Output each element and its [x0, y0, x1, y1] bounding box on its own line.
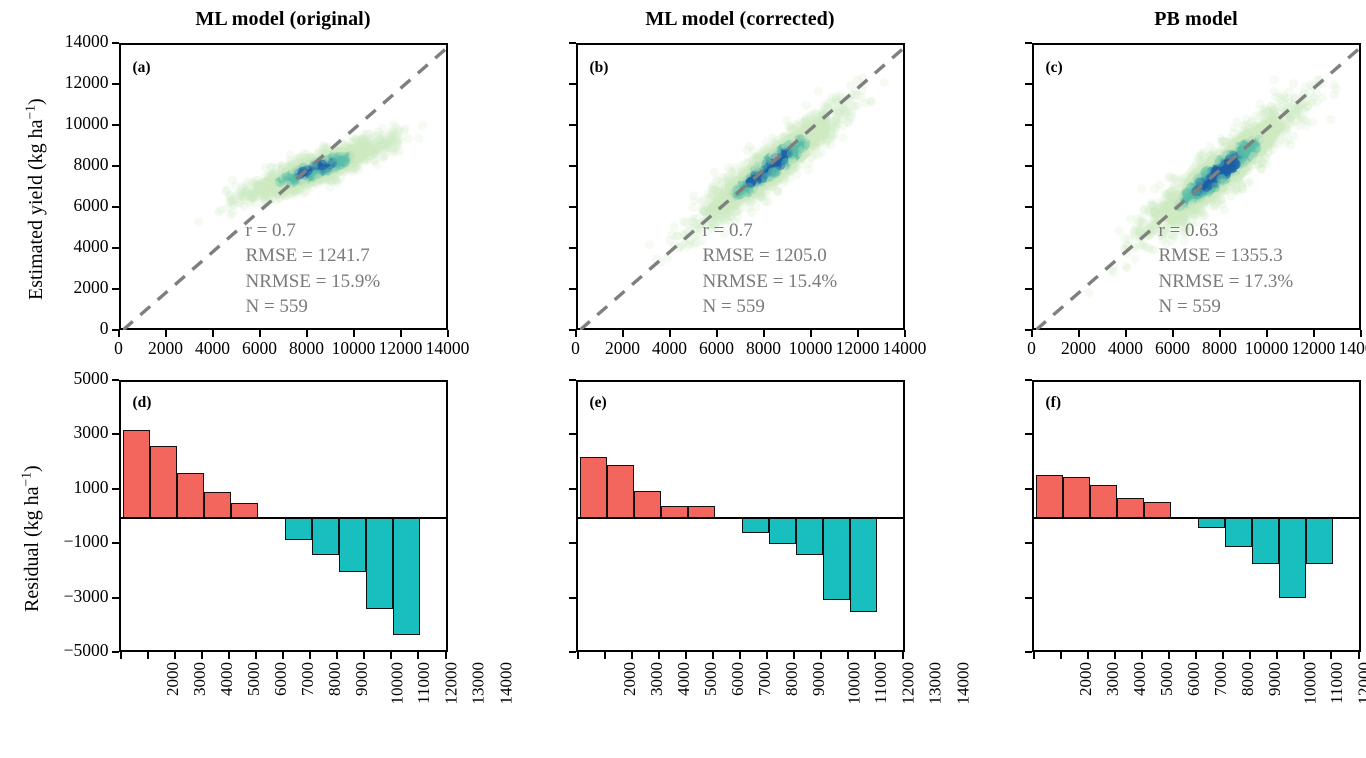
- xtick-label-a-7: 14000: [418, 340, 478, 358]
- res-ytick-e-5: [569, 651, 576, 653]
- res-ytick-f-3: [1025, 542, 1032, 544]
- xtick-b-2: [669, 330, 671, 337]
- ytick-a-2: [112, 247, 119, 249]
- residual-bar-f-3: [1117, 498, 1144, 518]
- panel-title-c: PB model: [1032, 8, 1361, 31]
- residual-bar-d-10: [393, 518, 420, 635]
- res-xtick-f-8: [1249, 652, 1251, 659]
- xtick-b-0: [575, 330, 577, 337]
- residual-bar-d-1: [150, 446, 177, 518]
- ytick-b-6: [569, 83, 576, 85]
- res-ytick-e-4: [569, 597, 576, 599]
- res-xtick-f-0: [1033, 652, 1035, 659]
- residual-bar-f-4: [1144, 502, 1171, 518]
- ytick-c-2: [1025, 247, 1032, 249]
- res-xtick-label-e-8: 10000: [846, 662, 863, 705]
- xtick-c-1: [1078, 330, 1080, 337]
- xtick-b-4: [763, 330, 765, 337]
- stats-block-a: r = 0.7RMSE = 1241.7NRMSE = 15.9%N = 559: [246, 218, 381, 320]
- res-xtick-label-d-0: 2000: [164, 662, 181, 696]
- panel-tag-f: (f): [1046, 394, 1062, 412]
- xtick-a-0: [118, 330, 120, 337]
- xtick-label-b-7: 14000: [875, 340, 935, 358]
- res-xtick-e-9: [820, 652, 822, 659]
- xtick-a-6: [400, 330, 402, 337]
- xtick-c-6: [1313, 330, 1315, 337]
- res-ytick-label-0: 5000: [33, 370, 109, 388]
- ytick-b-2: [569, 247, 576, 249]
- xtick-c-2: [1125, 330, 1127, 337]
- res-xtick-e-1: [604, 652, 606, 659]
- res-xtick-d-9: [363, 652, 365, 659]
- res-xtick-label-e-10: 12000: [900, 662, 917, 705]
- res-xtick-f-9: [1276, 652, 1278, 659]
- res-xtick-f-11: [1330, 652, 1332, 659]
- panel-tag-c: (c): [1046, 59, 1063, 77]
- residual-plot-d: [119, 380, 448, 652]
- zero-line-e: [578, 517, 903, 519]
- ytick-label-4: 8000: [41, 156, 109, 174]
- res-xtick-f-10: [1303, 652, 1305, 659]
- res-xtick-d-2: [174, 652, 176, 659]
- stat-rmse-b: RMSE = 1205.0: [703, 243, 838, 268]
- ytick-label-5: 10000: [41, 115, 109, 133]
- res-xtick-f-1: [1060, 652, 1062, 659]
- stat-r-b: r = 0.7: [703, 218, 838, 243]
- xtick-a-7: [447, 330, 449, 337]
- residual-bar-f-0: [1036, 475, 1063, 519]
- ytick-label-1: 2000: [41, 279, 109, 297]
- residual-bar-e-6: [742, 518, 769, 533]
- residual-bar-e-10: [850, 518, 877, 612]
- res-ytick-d-5: [112, 651, 119, 653]
- res-xtick-label-f-7: 9000: [1266, 662, 1283, 696]
- xtick-c-4: [1219, 330, 1221, 337]
- residual-bar-d-3: [204, 492, 231, 518]
- res-xtick-label-f-9: 11000: [1328, 662, 1345, 704]
- res-ytick-e-3: [569, 542, 576, 544]
- res-xtick-label-e-4: 6000: [729, 662, 746, 696]
- res-xtick-d-3: [201, 652, 203, 659]
- res-xtick-f-4: [1141, 652, 1143, 659]
- res-xtick-label-f-3: 5000: [1158, 662, 1175, 696]
- res-ytick-f-1: [1025, 433, 1032, 435]
- res-xtick-f-2: [1087, 652, 1089, 659]
- res-xtick-e-2: [631, 652, 633, 659]
- ytick-label-3: 6000: [41, 197, 109, 215]
- ytick-label-2: 4000: [41, 238, 109, 256]
- res-ytick-d-0: [112, 379, 119, 381]
- res-xtick-d-10: [390, 652, 392, 659]
- zero-line-f: [1034, 517, 1359, 519]
- stat-nrmse-c: NRMSE = 17.3%: [1159, 269, 1294, 294]
- stat-nrmse-b: NRMSE = 15.4%: [703, 269, 838, 294]
- stat-nrmse-a: NRMSE = 15.9%: [246, 269, 381, 294]
- ytick-c-1: [1025, 288, 1032, 290]
- xtick-b-3: [716, 330, 718, 337]
- res-xtick-label-d-8: 10000: [389, 662, 406, 705]
- residual-bar-d-7: [312, 518, 339, 555]
- residual-bar-d-0: [123, 430, 150, 518]
- res-xtick-label-d-7: 9000: [353, 662, 370, 696]
- res-ytick-e-0: [569, 379, 576, 381]
- stat-r-c: r = 0.63: [1159, 218, 1294, 243]
- res-xtick-label-d-12: 14000: [497, 662, 514, 705]
- ytick-b-4: [569, 165, 576, 167]
- res-xtick-f-5: [1168, 652, 1170, 659]
- residual-bar-f-7: [1225, 518, 1252, 547]
- xtick-a-1: [165, 330, 167, 337]
- res-xtick-e-4: [685, 652, 687, 659]
- ytick-c-5: [1025, 124, 1032, 126]
- stat-rmse-a: RMSE = 1241.7: [246, 243, 381, 268]
- ytick-b-5: [569, 124, 576, 126]
- ytick-c-3: [1025, 206, 1032, 208]
- res-xtick-e-5: [712, 652, 714, 659]
- residual-plot-e: [576, 380, 905, 652]
- panel-tag-a: (a): [133, 59, 151, 77]
- res-xtick-label-e-7: 9000: [810, 662, 827, 696]
- stats-block-b: r = 0.7RMSE = 1205.0NRMSE = 15.4%N = 559: [703, 218, 838, 320]
- xtick-b-6: [857, 330, 859, 337]
- res-xtick-d-8: [336, 652, 338, 659]
- res-xtick-label-f-1: 3000: [1104, 662, 1121, 696]
- res-ytick-d-3: [112, 542, 119, 544]
- yaxis-label-residual: Residual (kg ha−1): [18, 465, 44, 612]
- xtick-a-3: [259, 330, 261, 337]
- res-xtick-label-d-2: 4000: [218, 662, 235, 696]
- ytick-a-6: [112, 83, 119, 85]
- xtick-c-7: [1360, 330, 1362, 337]
- res-xtick-label-e-2: 4000: [675, 662, 692, 696]
- ytick-a-1: [112, 288, 119, 290]
- xtick-c-3: [1172, 330, 1174, 337]
- panel-tag-b: (b): [590, 59, 609, 77]
- xtick-b-7: [904, 330, 906, 337]
- res-xtick-label-d-1: 3000: [191, 662, 208, 696]
- density-points: [193, 120, 426, 226]
- xtick-c-5: [1266, 330, 1268, 337]
- res-xtick-label-f-8: 10000: [1302, 662, 1319, 705]
- ytick-a-3: [112, 206, 119, 208]
- ytick-a-4: [112, 165, 119, 167]
- residual-bar-e-7: [769, 518, 796, 544]
- res-xtick-d-0: [120, 652, 122, 659]
- residual-bar-d-9: [366, 518, 393, 609]
- res-ytick-d-2: [112, 488, 119, 490]
- res-xtick-e-6: [739, 652, 741, 659]
- res-ytick-e-2: [569, 488, 576, 490]
- res-xtick-e-12: [902, 652, 904, 659]
- res-xtick-d-6: [282, 652, 284, 659]
- yaxis-label-estimated-yield: Estimated yield (kg ha−1): [22, 98, 48, 300]
- res-ytick-f-0: [1025, 379, 1032, 381]
- res-xtick-label-e-11: 13000: [927, 662, 944, 705]
- res-xtick-label-e-6: 8000: [783, 662, 800, 696]
- panel-title-b: ML model (corrected): [576, 8, 905, 31]
- residual-bar-d-8: [339, 518, 366, 572]
- res-xtick-label-f-10: 12000: [1356, 662, 1366, 705]
- residual-bar-f-8: [1252, 518, 1279, 564]
- figure-root: ML model (original)(a)r = 0.7RMSE = 1241…: [0, 0, 1366, 758]
- res-xtick-label-d-5: 7000: [299, 662, 316, 696]
- res-xtick-f-7: [1222, 652, 1224, 659]
- res-xtick-d-7: [309, 652, 311, 659]
- residual-bar-e-1: [607, 465, 634, 518]
- res-xtick-e-0: [577, 652, 579, 659]
- residual-bar-e-8: [796, 518, 823, 555]
- xtick-b-5: [810, 330, 812, 337]
- res-ytick-d-4: [112, 597, 119, 599]
- residual-bar-d-2: [177, 473, 204, 518]
- ytick-c-6: [1025, 83, 1032, 85]
- res-xtick-label-d-11: 13000: [470, 662, 487, 705]
- res-xtick-d-1: [147, 652, 149, 659]
- xtick-c-0: [1031, 330, 1033, 337]
- res-xtick-label-f-0: 2000: [1077, 662, 1094, 696]
- residual-bar-f-9: [1279, 518, 1306, 598]
- res-xtick-f-6: [1195, 652, 1197, 659]
- stat-n-c: N = 559: [1159, 294, 1294, 319]
- res-ytick-label-5: −5000: [33, 642, 109, 660]
- res-xtick-d-5: [255, 652, 257, 659]
- res-xtick-d-12: [445, 652, 447, 659]
- res-xtick-f-12: [1358, 652, 1360, 659]
- xtick-label-c-7: 14000: [1331, 340, 1366, 358]
- res-xtick-label-d-3: 5000: [245, 662, 262, 696]
- res-xtick-e-10: [847, 652, 849, 659]
- res-xtick-label-e-12: 14000: [954, 662, 971, 705]
- residual-bar-f-10: [1306, 518, 1333, 564]
- ytick-a-5: [112, 124, 119, 126]
- residual-bar-d-6: [285, 518, 312, 540]
- res-xtick-label-f-2: 4000: [1131, 662, 1148, 696]
- residual-bar-e-2: [634, 491, 661, 518]
- ytick-b-3: [569, 206, 576, 208]
- res-ytick-label-4: −3000: [33, 588, 109, 606]
- ytick-a-7: [112, 42, 119, 44]
- residual-bar-f-6: [1198, 518, 1225, 528]
- res-xtick-label-d-4: 6000: [272, 662, 289, 696]
- residual-bar-f-2: [1090, 485, 1117, 518]
- res-xtick-f-3: [1114, 652, 1116, 659]
- ytick-b-1: [569, 288, 576, 290]
- panel-title-a: ML model (original): [119, 8, 448, 31]
- residual-plot-f: [1032, 380, 1361, 652]
- res-xtick-label-e-1: 3000: [648, 662, 665, 696]
- res-ytick-f-4: [1025, 597, 1032, 599]
- ytick-label-6: 12000: [41, 74, 109, 92]
- panel-tag-e: (e): [590, 394, 607, 412]
- xtick-a-5: [353, 330, 355, 337]
- res-ytick-label-3: −1000: [33, 533, 109, 551]
- res-xtick-e-3: [658, 652, 660, 659]
- stats-block-c: r = 0.63RMSE = 1355.3NRMSE = 17.3%N = 55…: [1159, 218, 1294, 320]
- ytick-label-0: 0: [41, 320, 109, 338]
- res-ytick-label-1: 3000: [33, 424, 109, 442]
- residual-bar-f-1: [1063, 477, 1090, 518]
- res-xtick-label-f-6: 8000: [1239, 662, 1256, 696]
- res-xtick-label-e-0: 2000: [621, 662, 638, 696]
- residual-bar-e-0: [580, 457, 607, 518]
- ytick-label-7: 14000: [41, 33, 109, 51]
- res-xtick-e-8: [793, 652, 795, 659]
- res-xtick-e-11: [874, 652, 876, 659]
- ytick-b-7: [569, 42, 576, 44]
- res-xtick-d-4: [228, 652, 230, 659]
- res-xtick-label-e-9: 11000: [872, 662, 889, 704]
- res-ytick-d-1: [112, 433, 119, 435]
- res-xtick-label-f-5: 7000: [1212, 662, 1229, 696]
- res-xtick-label-d-6: 8000: [326, 662, 343, 696]
- res-ytick-f-5: [1025, 651, 1032, 653]
- panel-tag-d: (d): [133, 394, 152, 412]
- res-xtick-label-d-9: 11000: [415, 662, 432, 704]
- residual-bar-d-4: [231, 503, 258, 518]
- res-xtick-label-e-3: 5000: [702, 662, 719, 696]
- res-xtick-label-d-10: 12000: [443, 662, 460, 705]
- xtick-a-2: [212, 330, 214, 337]
- xtick-a-4: [306, 330, 308, 337]
- residual-bar-e-9: [823, 518, 850, 600]
- ytick-c-4: [1025, 165, 1032, 167]
- res-xtick-d-11: [417, 652, 419, 659]
- stat-n-b: N = 559: [703, 294, 838, 319]
- res-xtick-label-f-4: 6000: [1185, 662, 1202, 696]
- xtick-b-1: [622, 330, 624, 337]
- res-xtick-e-7: [766, 652, 768, 659]
- ytick-c-7: [1025, 42, 1032, 44]
- res-ytick-f-2: [1025, 488, 1032, 490]
- res-ytick-e-1: [569, 433, 576, 435]
- res-ytick-label-2: 1000: [33, 479, 109, 497]
- stat-r-a: r = 0.7: [246, 218, 381, 243]
- zero-line-d: [121, 517, 446, 519]
- stat-rmse-c: RMSE = 1355.3: [1159, 243, 1294, 268]
- stat-n-a: N = 559: [246, 294, 381, 319]
- res-xtick-label-e-5: 7000: [756, 662, 773, 696]
